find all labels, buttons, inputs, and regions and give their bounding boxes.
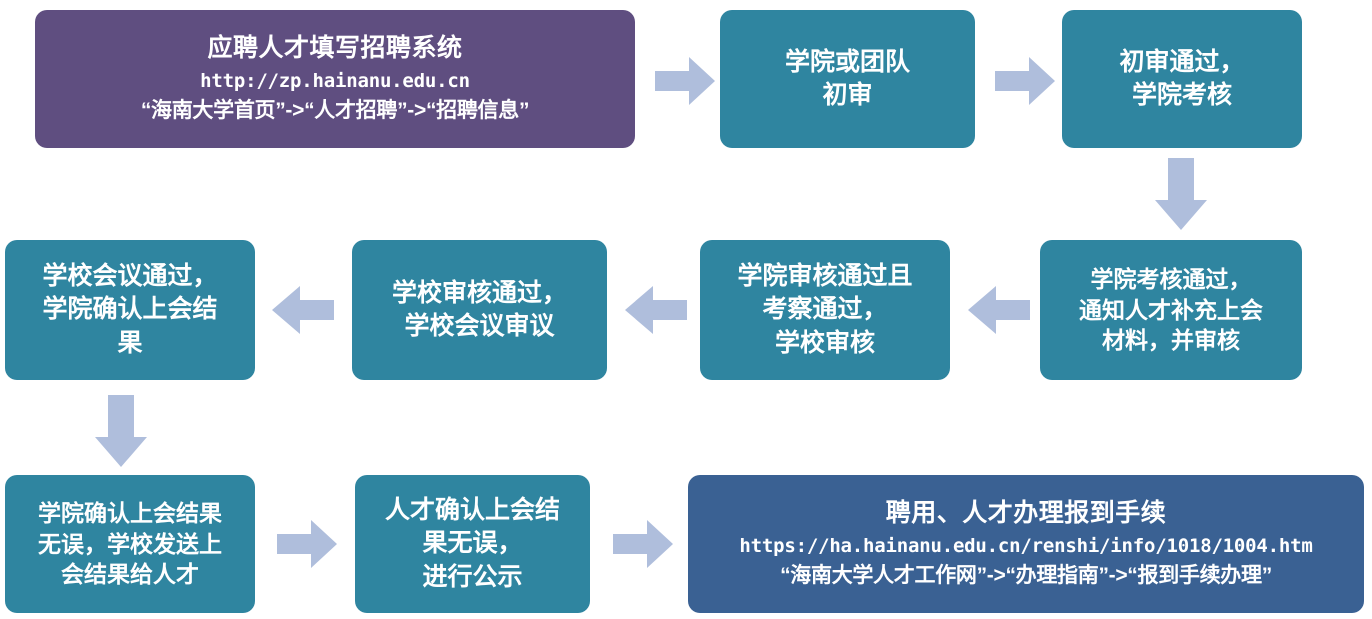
node-apply-path: “海南大学首页”->“人才招聘”->“招聘信息” [43,97,627,125]
node-college-pass-inspect[interactable]: 学院审核通过且 考察通过， 学校审核 [700,240,950,380]
node-inspect-line3: 学校审核 [708,327,942,361]
node-first-pass[interactable]: 初审通过， 学院考核 [1062,10,1302,148]
node-meeting-pass-line1: 学校会议通过， [13,260,247,294]
node-apply-system[interactable]: 应聘人才填写招聘系统 http://zp.hainanu.edu.cn “海南大… [35,10,635,148]
node-talent-confirm-line3: 进行公示 [363,561,582,595]
node-inspect-line1: 学院审核通过且 [708,260,942,294]
arrow-down-firstpass-to-assess [1155,158,1207,230]
node-school-pass-line1: 学校审核通过， [360,277,599,311]
flowchart-canvas: 应聘人才填写招聘系统 http://zp.hainanu.edu.cn “海南大… [0,0,1372,619]
node-college-confirm-line3: 会结果给人才 [13,559,247,590]
node-apply-url: http://zp.hainanu.edu.cn [43,66,627,97]
node-assess-line2: 通知人才补充上会 [1048,295,1294,326]
node-assess-line1: 学院考核通过， [1048,264,1294,295]
node-first-pass-line1: 初审通过， [1070,46,1294,80]
node-meeting-pass-line2: 学院确认上会结 [13,293,247,327]
node-hire-path: “海南大学人才工作网”->“办理指南”->“报到手续办理” [696,562,1356,590]
node-assess-pass[interactable]: 学院考核通过， 通知人才补充上会 材料，并审核 [1040,240,1302,380]
node-assess-line3: 材料，并审核 [1048,325,1294,356]
node-college-confirm-line2: 无误，学校发送上 [13,529,247,560]
node-college-review-line1: 学院或团队 [728,46,967,80]
node-inspect-line2: 考察通过， [708,293,942,327]
arrow-left-inspect-to-school [625,286,687,334]
node-meeting-pass[interactable]: 学校会议通过， 学院确认上会结 果 [5,240,255,380]
node-hire-url: https://ha.hainanu.edu.cn/renshi/info/10… [696,531,1356,562]
arrow-left-assess-to-inspect [968,286,1030,334]
node-school-pass-line2: 学校会议审议 [360,310,599,344]
node-meeting-pass-line3: 果 [13,327,247,361]
arrow-down-meeting-to-confirm [95,395,147,467]
node-talent-confirm[interactable]: 人才确认上会结 果无误， 进行公示 [355,475,590,613]
arrow-right-talent-to-hire [613,520,673,568]
node-hire-report[interactable]: 聘用、人才办理报到手续 https://ha.hainanu.edu.cn/re… [688,475,1364,613]
arrow-left-school-to-meeting [272,286,334,334]
node-college-confirm[interactable]: 学院确认上会结果 无误，学校发送上 会结果给人才 [5,475,255,613]
node-college-confirm-line1: 学院确认上会结果 [13,498,247,529]
node-talent-confirm-line1: 人才确认上会结 [363,494,582,528]
node-college-review[interactable]: 学院或团队 初审 [720,10,975,148]
node-talent-confirm-line2: 果无误， [363,527,582,561]
node-college-review-line2: 初审 [728,79,967,113]
arrow-right-apply-to-college [655,57,715,105]
node-hire-heading: 聘用、人才办理报到手续 [696,497,1356,531]
node-first-pass-line2: 学院考核 [1070,79,1294,113]
node-school-pass-meeting[interactable]: 学校审核通过， 学校会议审议 [352,240,607,380]
node-apply-heading: 应聘人才填写招聘系统 [43,32,627,66]
arrow-right-college-to-firstpass [995,57,1055,105]
arrow-right-confirm-to-talent [277,520,337,568]
